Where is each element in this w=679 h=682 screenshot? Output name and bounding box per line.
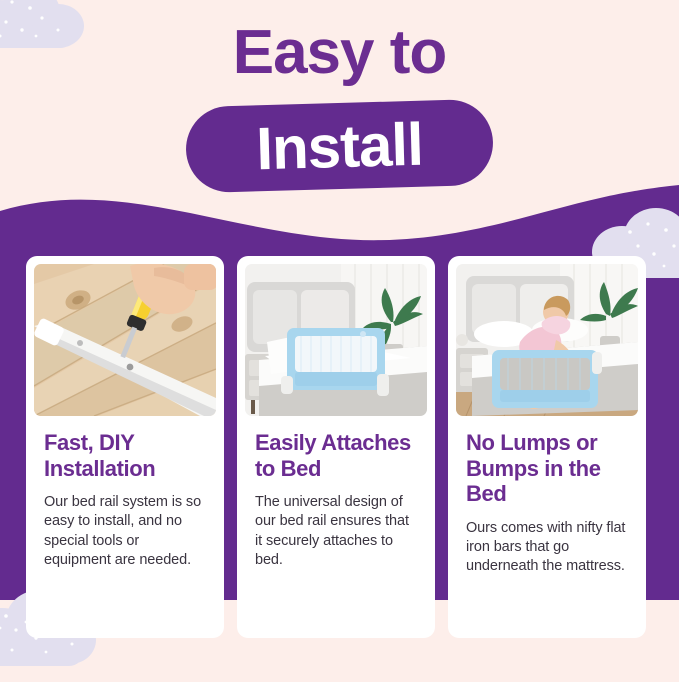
feature-card-body: Easily Attaches to Bed The universal des… bbox=[245, 416, 427, 570]
feature-card-title: Easily Attaches to Bed bbox=[255, 430, 417, 481]
feature-card: No Lumps or Bumps in the Bed Ours comes … bbox=[448, 256, 646, 638]
screwdriver-installing-rail-on-wood-photo bbox=[34, 264, 216, 416]
feature-card-body: Fast, DIY Installation Our bed rail syst… bbox=[34, 416, 216, 570]
feature-card-text: Our bed rail system is so easy to instal… bbox=[44, 493, 206, 570]
child-climbing-over-bed-rail-photo bbox=[456, 264, 638, 416]
feature-card-body: No Lumps or Bumps in the Bed Ours comes … bbox=[456, 416, 638, 576]
headline-pill: Install bbox=[186, 103, 493, 189]
blue-bed-rail-attached-to-bed-photo bbox=[245, 264, 427, 416]
feature-cards: Fast, DIY Installation Our bed rail syst… bbox=[26, 256, 654, 638]
headline-line-1: Easy to bbox=[0, 20, 679, 85]
feature-card-text: The universal design of our bed rail ens… bbox=[255, 493, 417, 570]
feature-card-title: Fast, DIY Installation bbox=[44, 430, 206, 481]
feature-card-title: No Lumps or Bumps in the Bed bbox=[466, 430, 628, 507]
infographic-canvas: Easy to Install bbox=[0, 0, 679, 679]
headline-block: Easy to bbox=[0, 20, 679, 85]
feature-card: Fast, DIY Installation Our bed rail syst… bbox=[26, 256, 224, 638]
headline-line-2: Install bbox=[185, 99, 494, 194]
feature-card: Easily Attaches to Bed The universal des… bbox=[237, 256, 435, 638]
feature-card-text: Ours comes with nifty flat iron bars tha… bbox=[466, 519, 628, 577]
